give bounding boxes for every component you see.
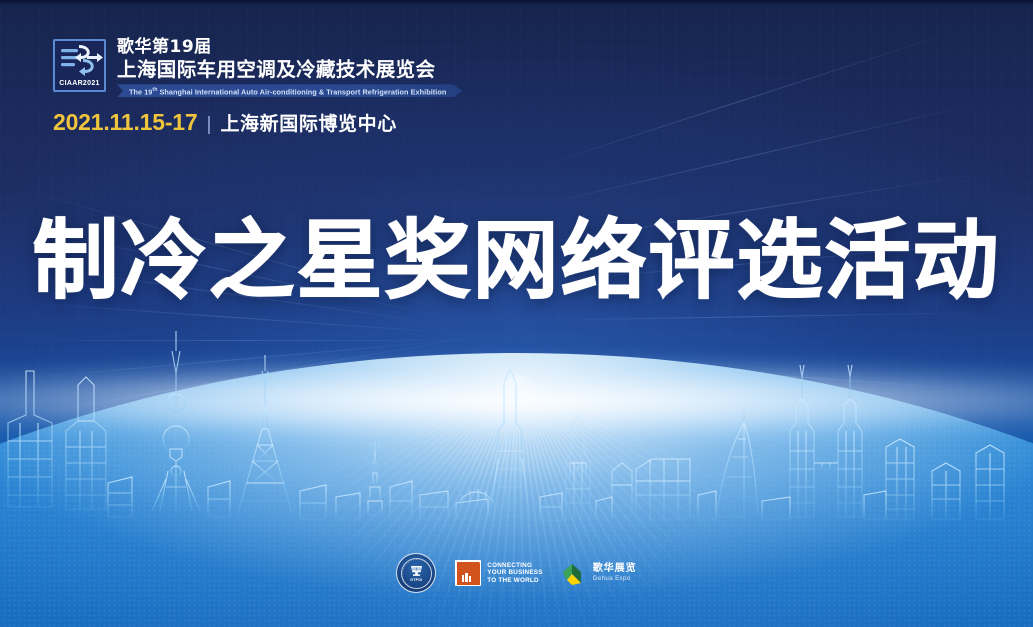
light-ray — [517, 374, 708, 581]
event-venue: 上海新国际博览中心 — [220, 109, 396, 136]
english-name-ribbon: The 19th Shanghai International Auto Air… — [117, 84, 462, 97]
ufi-tagline-line1: CONNECTING — [487, 562, 542, 569]
light-ray — [283, 374, 518, 530]
light-streak — [533, 26, 971, 169]
light-ray — [308, 374, 518, 562]
poster-canvas: CIAAR2021 歌华第19届 上海国际车用空调及冷藏技术展览会 The 19… — [0, 0, 1033, 627]
organizer-edition-line: 歌华第19届 — [117, 38, 462, 57]
gehua-expo-cn: 歌华展览 — [593, 563, 637, 575]
poster-title-text: 制冷之星奖网络评选活动 — [33, 218, 1001, 304]
light-streak — [533, 103, 981, 207]
light-streak — [533, 358, 992, 391]
ciaar-logo[interactable]: CIAAR2021 — [53, 39, 106, 92]
event-date: 2021.11.15-17 — [53, 109, 198, 136]
light-ray — [299, 374, 518, 552]
event-header: CIAAR2021 歌华第19届 上海国际车用空调及冷藏技术展览会 The 19… — [53, 38, 462, 136]
en-rest: Shanghai International Auto Air-conditio… — [157, 88, 446, 97]
ufi-mark-icon — [455, 560, 481, 586]
seal-arc-text-icon — [397, 554, 437, 594]
ufi-tagline-line2: YOUR BUSINESS — [487, 569, 542, 576]
light-streak — [20, 336, 473, 417]
light-ray — [517, 374, 759, 519]
top-edge-shade — [0, 0, 1033, 6]
light-ray — [317, 374, 518, 572]
ciaar-logo-code: CIAAR2021 — [55, 80, 104, 87]
event-date-venue: 2021.11.15-17 | 上海新国际博览中心 — [53, 109, 462, 136]
gehua-expo-wordmark: 歌华展览 Gehua Expo — [593, 563, 637, 583]
light-ray — [291, 374, 518, 541]
light-ray — [276, 374, 518, 519]
gehua-chevron-icon — [562, 561, 587, 586]
light-ray — [517, 374, 736, 552]
light-ray — [517, 374, 765, 507]
gehua-expo-en: Gehua Expo — [593, 575, 637, 583]
gehua-expo-logo[interactable]: 歌华展览 Gehua Expo — [562, 561, 637, 586]
exhibition-name: 上海国际车用空调及冷藏技术展览会 — [117, 58, 462, 81]
light-streaks-right — [513, 150, 1033, 480]
ufi-tagline: CONNECTING YOUR BUSINESS TO THE WORLD — [487, 562, 542, 584]
date-venue-divider: | — [207, 114, 212, 136]
gtpoi-seal-logo[interactable]: GTPOI — [396, 553, 436, 593]
exhibition-name-english: The 19th Shanghai International Auto Air… — [129, 86, 446, 96]
world-landmarks-skyline — [0, 311, 1033, 531]
ufi-bars-icon — [462, 573, 471, 582]
light-ray — [270, 374, 518, 507]
light-streak — [533, 312, 993, 321]
en-prefix: The 19 — [129, 88, 152, 97]
ufi-orange-square — [457, 562, 480, 585]
ufi-tagline-line3: TO THE WORLD — [487, 577, 542, 584]
light-ray — [517, 374, 744, 541]
light-ray — [517, 374, 752, 530]
gtpoi-seal-badge: GTPOI — [396, 553, 436, 593]
ciaar-airflow-icon — [59, 44, 104, 82]
light-ray — [327, 374, 518, 581]
light-ray — [517, 374, 718, 572]
light-streak — [20, 340, 480, 341]
light-ray — [517, 374, 727, 562]
sponsor-logo-bar: GTPOI CONNECTING YOUR BUSINESS TO THE WO… — [0, 553, 1033, 593]
page-title: 制冷之星奖网络评选活动 — [0, 218, 1033, 304]
light-streak — [20, 338, 478, 379]
ufi-logo[interactable]: CONNECTING YOUR BUSINESS TO THE WORLD — [455, 560, 542, 586]
globe-horizon-glow — [0, 341, 1033, 461]
light-streak — [533, 396, 987, 469]
